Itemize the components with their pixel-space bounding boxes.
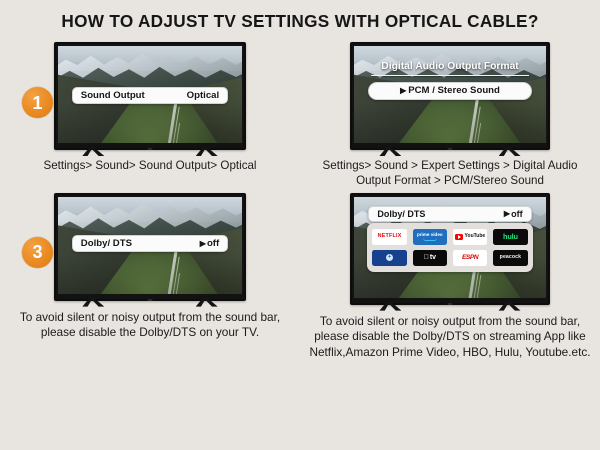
osd-divider xyxy=(371,75,528,76)
step-card-4: 4 Dolby/ DTS xyxy=(300,189,600,361)
page-title: HOW TO ADJUST TV SETTINGS WITH OPTICAL C… xyxy=(0,0,600,30)
osd-value-group: Optical xyxy=(186,90,220,101)
step-caption-4: To avoid silent or noisy output from the… xyxy=(300,305,600,361)
app-tile-espn[interactable]: ESPN xyxy=(453,250,487,266)
step-card-3: 3 Dolby/ DTS xyxy=(0,189,300,361)
step-card-2: 2 Digital Audio Output Format xyxy=(300,38,600,189)
apple-logo-icon:  xyxy=(424,254,429,261)
step-caption-2: Settings> Sound > Expert Settings > Digi… xyxy=(300,150,600,189)
osd-value: off xyxy=(207,238,219,249)
tv-illustration-1: Sound Output Optical xyxy=(54,38,246,150)
peacock-logo: peacock xyxy=(500,255,521,260)
play-arrow-icon: ▶ xyxy=(504,210,510,218)
espn-logo: ESPN xyxy=(462,255,478,262)
osd-row-dolby-dts[interactable]: Dolby/ DTS ▶ off xyxy=(368,206,531,222)
step-number-badge-3: 3 xyxy=(22,237,53,268)
tv-frame-2: Digital Audio Output Format ▶ PCM / Ster… xyxy=(350,42,550,150)
tv-screen-4: Dolby/ DTS ▶ off NETFLIX prime vid xyxy=(354,197,546,298)
osd-heading-digital-audio-output-format: Digital Audio Output Format xyxy=(354,61,546,72)
app-tile-peacock[interactable]: peacock xyxy=(493,250,527,266)
tv-illustration-2: Digital Audio Output Format ▶ PCM / Ster… xyxy=(350,38,550,150)
tv-illustration-4: Dolby/ DTS ▶ off NETFLIX prime vid xyxy=(350,189,550,305)
play-arrow-icon: ▶ xyxy=(200,240,206,248)
tv-indicator-led xyxy=(448,148,453,150)
steps-row-bottom: 3 Dolby/ DTS xyxy=(0,189,600,361)
tv-screen-2: Digital Audio Output Format ▶ PCM / Ster… xyxy=(354,46,546,143)
tv-frame-1: Sound Output Optical xyxy=(54,42,246,150)
tv-indicator-led xyxy=(148,299,153,301)
streaming-apps-tray: NETFLIX prime video YouTube xyxy=(367,223,532,272)
steps-row-top: 1 Sound Output xyxy=(0,38,600,189)
app-tile-youtube[interactable]: YouTube xyxy=(453,229,487,245)
tv-indicator-led xyxy=(448,303,453,305)
osd-value-group: ▶ off xyxy=(200,238,219,249)
tv-screen-1: Sound Output Optical xyxy=(58,46,242,143)
tv-illustration-3: Dolby/ DTS ▶ off xyxy=(54,189,246,301)
osd-value: PCM / Stereo Sound xyxy=(408,85,500,96)
tv-frame-3: Dolby/ DTS ▶ off xyxy=(54,193,246,301)
osd-label: Dolby/ DTS xyxy=(377,209,425,219)
youtube-logo: YouTube xyxy=(465,234,486,239)
tv-frame-4: Dolby/ DTS ▶ off NETFLIX prime vid xyxy=(350,193,550,305)
tv-screen-3: Dolby/ DTS ▶ off xyxy=(58,197,242,294)
prime-smile-icon xyxy=(423,238,437,241)
app-tile-disney-plus[interactable]: + xyxy=(372,250,406,266)
osd-value-group: ▶ off xyxy=(504,209,523,219)
osd-row-dolby-dts[interactable]: Dolby/ DTS ▶ off xyxy=(72,235,228,252)
osd-value: Optical xyxy=(187,90,220,101)
prime-video-logo: prime video xyxy=(417,233,443,238)
disney-plus-icon: + xyxy=(386,254,393,261)
steps-grid: 1 Sound Output xyxy=(0,38,600,360)
tv-indicator-led xyxy=(148,148,153,150)
osd-row-sound-output[interactable]: Sound Output Optical xyxy=(72,87,228,104)
step-caption-1: Settings> Sound> Sound Output> Optical xyxy=(0,150,300,173)
app-tile-apple-tv[interactable]:  tv xyxy=(413,250,447,266)
play-arrow-icon: ▶ xyxy=(400,87,406,95)
osd-label: Dolby/ DTS xyxy=(81,238,132,249)
osd-option-pcm-stereo-sound[interactable]: ▶ PCM / Stereo Sound xyxy=(368,82,531,100)
hulu-logo: hulu xyxy=(503,233,518,240)
app-tile-prime-video[interactable]: prime video xyxy=(413,229,447,245)
step-number-badge-1: 1 xyxy=(22,87,53,118)
step-caption-3: To avoid silent or noisy output from the… xyxy=(0,301,300,341)
app-tile-hulu[interactable]: hulu xyxy=(493,229,527,245)
osd-label: Sound Output xyxy=(81,90,145,101)
netflix-logo: NETFLIX xyxy=(378,234,402,239)
youtube-play-icon xyxy=(455,234,463,240)
osd-value: off xyxy=(511,209,523,219)
apple-tv-logo: tv xyxy=(430,254,436,261)
app-tile-netflix[interactable]: NETFLIX xyxy=(372,229,406,245)
step-card-1: 1 Sound Output xyxy=(0,38,300,189)
